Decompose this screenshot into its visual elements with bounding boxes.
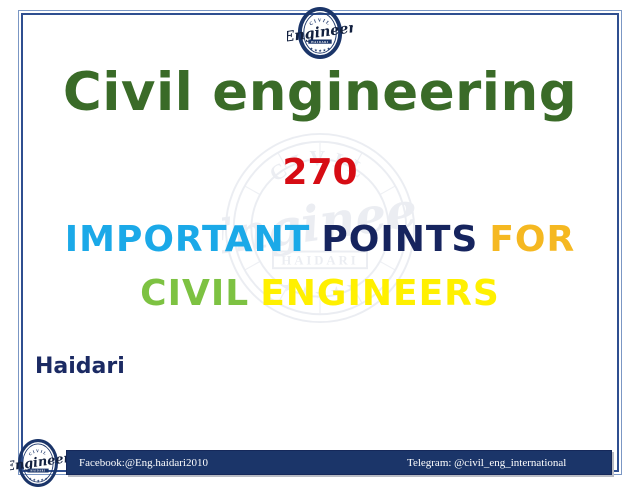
- subtitle-line-2: CIVILENGINEERS: [0, 272, 640, 316]
- svg-text:★: ★: [310, 46, 314, 51]
- page-title: Civil engineering: [0, 62, 640, 124]
- svg-text:★: ★: [318, 48, 322, 53]
- presentation-slide: CIVIL Engineer HAIDARI ★★ ★★ ★ CIVIL Eng…: [0, 0, 640, 495]
- subtitle-word-for: FOR: [489, 218, 575, 262]
- subtitle-word-points: POINTS: [321, 218, 478, 262]
- points-count: 270: [0, 152, 640, 194]
- footer-bar: Facebook:@Eng.haidari2010 Telegram: @civ…: [66, 450, 612, 475]
- subtitle-word-civil: CIVIL: [140, 272, 249, 316]
- footer-telegram-handle: Telegram: @civil_eng_international: [407, 455, 566, 471]
- subtitle-line-1: IMPORTANTPOINTSFOR: [0, 218, 640, 262]
- svg-text:HAIDARI: HAIDARI: [30, 470, 45, 473]
- author-name: Haidari: [35, 353, 125, 381]
- svg-text:★: ★: [323, 48, 327, 53]
- subtitle-word-engineers: ENGINEERS: [260, 272, 500, 316]
- svg-text:★: ★: [327, 46, 331, 51]
- footer-logo-badge: CIVIL Engineer HAIDARI ★★ ★★ ★: [10, 437, 66, 489]
- header-logo-badge: CIVIL Engineer HAIDARI ★★ ★★ ★: [287, 7, 353, 59]
- subtitle-word-important: IMPORTANT: [65, 218, 311, 262]
- svg-text:HAIDARI: HAIDARI: [311, 40, 329, 44]
- svg-text:★: ★: [314, 48, 318, 53]
- footer-facebook-handle: Facebook:@Eng.haidari2010: [79, 455, 208, 471]
